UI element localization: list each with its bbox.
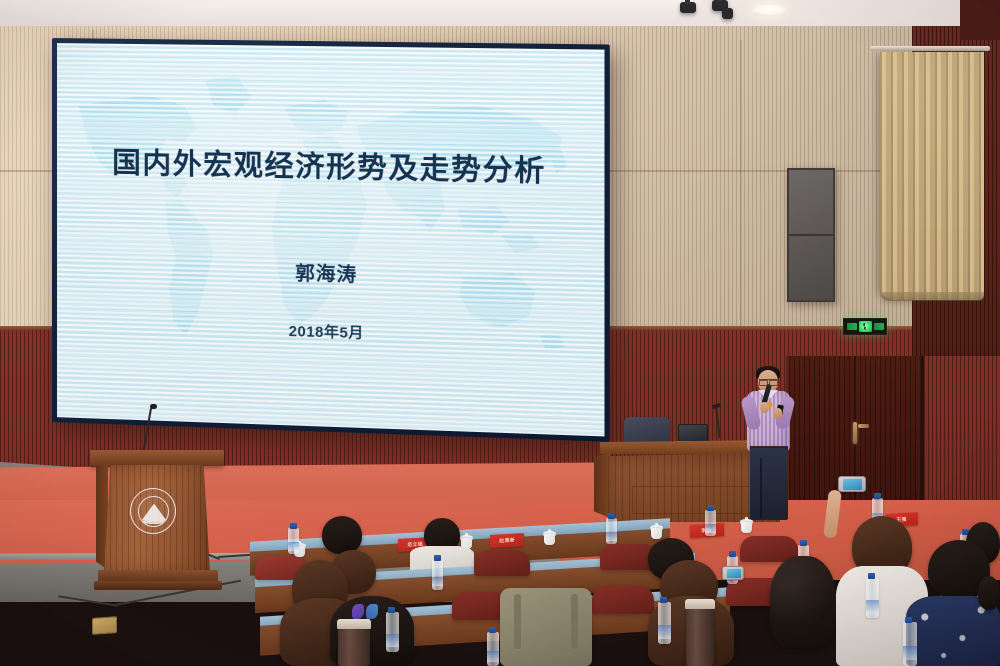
water-bottle [903, 622, 917, 666]
hair-bow [352, 604, 378, 619]
door-handle-lever[interactable] [858, 424, 869, 428]
slide-author: 郭海涛 [295, 258, 357, 287]
ceiling-spotlight [680, 2, 696, 13]
presenter [742, 362, 796, 520]
water-bottle [658, 602, 671, 644]
audience-head [978, 576, 1000, 610]
wall-right-corner [960, 0, 1000, 40]
floor-power-outlet[interactable] [92, 616, 117, 635]
water-bottle [386, 612, 399, 652]
audience-hair-curly [770, 556, 836, 648]
presenter-trouser-seam [760, 458, 762, 518]
podium-microphone-head [150, 404, 157, 409]
curtain-hem [880, 292, 984, 301]
water-bottle [288, 528, 299, 554]
ceiling-downlight [752, 4, 786, 15]
screen-display-surface: 国内外宏观经济形势及走势分析 郭海涛 2018年5月 [57, 43, 605, 436]
lidded-teacup [543, 530, 556, 545]
wall-panel-seam [740, 40, 742, 340]
door-handle[interactable] [853, 422, 857, 444]
audience-seat-back[interactable] [592, 586, 654, 614]
slide-date: 2018年5月 [289, 320, 364, 344]
ceiling-spotlight [722, 8, 733, 19]
podium-top-surface [90, 450, 224, 466]
audience-seat-back[interactable] [474, 550, 530, 576]
phone-screen [843, 479, 862, 490]
running-person-icon [859, 321, 872, 332]
slide-title: 国内外宏观经济形势及走势分析 [112, 140, 546, 190]
exit-sign-bar-right [874, 323, 884, 330]
presenter-right-hand [773, 408, 782, 419]
insulated-thermos [686, 608, 714, 666]
curtain-rod [870, 46, 990, 51]
smartphone-camera[interactable] [838, 476, 866, 492]
phone-screen [727, 569, 741, 578]
led-presentation-screen[interactable]: 国内外宏观经济形势及走势分析 郭海涛 2018年5月 [52, 38, 610, 442]
window-curtain[interactable] [880, 52, 984, 300]
glasses-icon [759, 379, 778, 383]
exit-sign-bar-left [847, 323, 857, 330]
backpack[interactable] [500, 588, 592, 666]
lecture-hall-photo: 国内外宏观经济形势及走势分析 郭海涛 2018年5月 [0, 0, 1000, 666]
wall-speaker-cabinet [787, 168, 835, 302]
presenter-trousers [750, 448, 788, 520]
institution-seal-icon [130, 488, 176, 534]
water-bottle [705, 510, 716, 536]
lidded-teacup [650, 524, 663, 539]
insulated-thermos [338, 628, 370, 666]
lidded-teacup [740, 518, 753, 533]
smartphone-camera[interactable] [722, 566, 744, 580]
head-table-side [594, 452, 610, 518]
podium-plinth [94, 581, 222, 590]
lectern-podium[interactable] [96, 450, 218, 590]
nameplate-text: 赵雅新 [499, 537, 515, 544]
audience-head [322, 516, 362, 554]
presenter-left-hand [760, 402, 769, 413]
water-bottle [432, 560, 443, 590]
water-bottle [866, 578, 879, 618]
water-bottle [606, 518, 617, 544]
exit-sign [843, 318, 887, 335]
slide-text-block: 国内外宏观经济形势及走势分析 郭海涛 2018年5月 [57, 43, 605, 436]
table-nameplate: 赵雅新 [490, 533, 524, 548]
water-bottle [487, 632, 499, 666]
